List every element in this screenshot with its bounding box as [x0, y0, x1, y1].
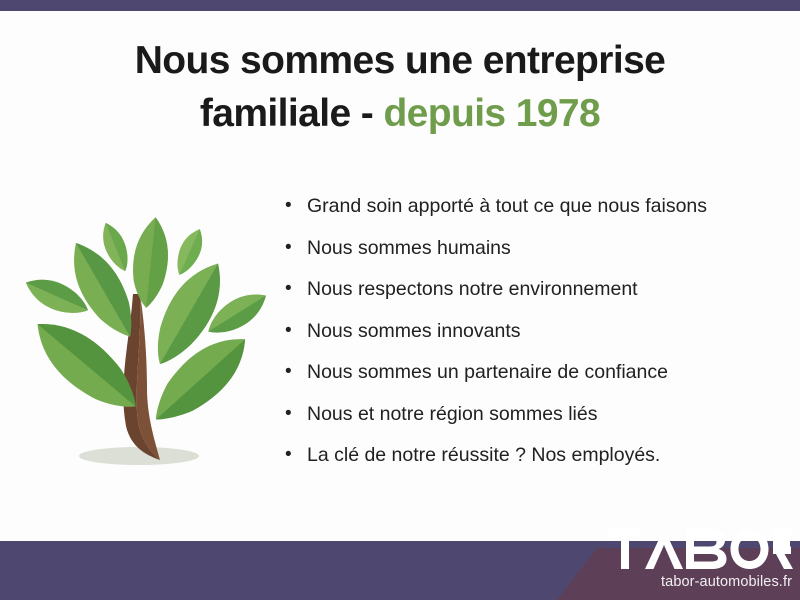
bullet-point-icon: • — [285, 234, 307, 262]
bullet-point-icon: • — [285, 358, 307, 386]
list-item-label: Nous sommes un partenaire de confiance — [307, 358, 775, 386]
brand-logo[interactable]: tabor-automobiles.fr — [552, 512, 800, 600]
list-item-label: Nous sommes innovants — [307, 317, 775, 345]
list-item-label: Grand soin apporté à tout ce que nous fa… — [307, 192, 775, 220]
tabor-wordmark-icon — [608, 529, 793, 569]
tree-shadow — [79, 447, 199, 465]
list-item: • Nous respectons notre environnement — [285, 275, 775, 317]
tree-icon — [14, 188, 268, 488]
list-item: • Nous sommes humains — [285, 234, 775, 276]
bullet-point-icon: • — [285, 192, 307, 220]
headline-dash: - — [361, 92, 373, 135]
headline-line-1-text: Nous sommes une entreprise — [135, 39, 666, 82]
bullet-point-icon: • — [285, 317, 307, 345]
headline-prefix: familiale — [200, 92, 351, 135]
page-title: Nous sommes une entreprise familiale - d… — [0, 34, 800, 140]
list-item-label: Nous respectons notre environnement — [307, 275, 775, 303]
list-item: • Nous et notre région sommes liés — [285, 400, 775, 442]
slide-canvas: Nous sommes une entreprise familiale - d… — [0, 0, 800, 600]
benefits-list: • Grand soin apporté à tout ce que nous … — [285, 192, 775, 483]
headline-line-2: familiale - depuis 1978 — [0, 87, 800, 140]
bullet-point-icon: • — [285, 275, 307, 303]
list-item: • Grand soin apporté à tout ce que nous … — [285, 192, 775, 234]
list-item-label: Nous sommes humains — [307, 234, 775, 262]
bullet-point-icon: • — [285, 441, 307, 469]
top-accent-bar — [0, 0, 800, 11]
list-item-label: La clé de notre réussite ? Nos employés. — [307, 441, 775, 469]
list-item: • Nous sommes un partenaire de confiance — [285, 358, 775, 400]
bullet-point-icon: • — [285, 400, 307, 428]
list-item: • Nous sommes innovants — [285, 317, 775, 359]
list-item-label: Nous et notre région sommes liés — [307, 400, 775, 428]
headline-accent: depuis 1978 — [383, 92, 600, 135]
headline-line-1: Nous sommes une entreprise — [0, 34, 800, 87]
logo-tagline: tabor-automobiles.fr — [552, 574, 792, 590]
list-item: • La clé de notre réussite ? Nos employé… — [285, 441, 775, 483]
tree-illustration — [14, 188, 268, 488]
